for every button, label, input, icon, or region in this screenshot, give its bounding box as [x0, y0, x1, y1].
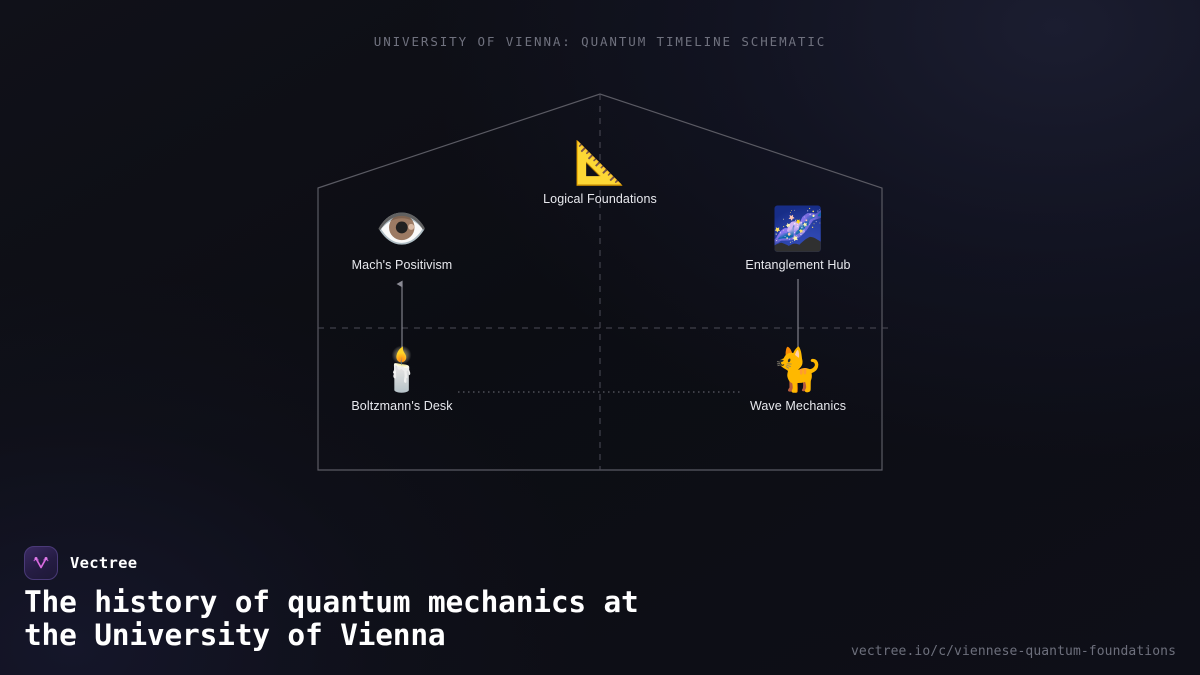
triangular-ruler-icon: 📐: [515, 140, 685, 186]
page-root: UNIVERSITY OF VIENNA: QUANTUM TIMELINE S…: [0, 0, 1200, 675]
node-label: Mach's Positivism: [317, 258, 487, 272]
schematic-graphics: [0, 0, 1200, 520]
footer-url: vectree.io/c/viennese-quantum-foundation…: [851, 644, 1176, 659]
node-label: Entanglement Hub: [713, 258, 883, 272]
cat-icon: 🐈: [713, 347, 883, 393]
brand-name: Vectree: [70, 554, 137, 572]
footer-band: Vectree The history of quantum mechanics…: [0, 520, 1200, 675]
node-logical-foundations[interactable]: 📐 Logical Foundations: [515, 140, 685, 206]
node-entanglement-hub[interactable]: 🌌 Entanglement Hub: [713, 206, 883, 272]
node-label: Wave Mechanics: [713, 399, 883, 413]
vectree-logo-icon: [24, 546, 58, 580]
node-wave-mechanics[interactable]: 🐈 Wave Mechanics: [713, 347, 883, 413]
node-label: Logical Foundations: [515, 192, 685, 206]
milky-way-icon: 🌌: [713, 206, 883, 252]
node-machs-positivism[interactable]: 👁️ Mach's Positivism: [317, 206, 487, 272]
page-title: The history of quantum mechanics at the …: [24, 586, 824, 652]
node-label: Boltzmann's Desk: [317, 399, 487, 413]
candle-icon: 🕯️: [317, 347, 487, 393]
eye-icon: 👁️: [317, 206, 487, 252]
brand-row[interactable]: Vectree: [24, 546, 137, 580]
node-boltzmanns-desk[interactable]: 🕯️ Boltzmann's Desk: [317, 347, 487, 413]
schematic-stage: UNIVERSITY OF VIENNA: QUANTUM TIMELINE S…: [0, 0, 1200, 520]
